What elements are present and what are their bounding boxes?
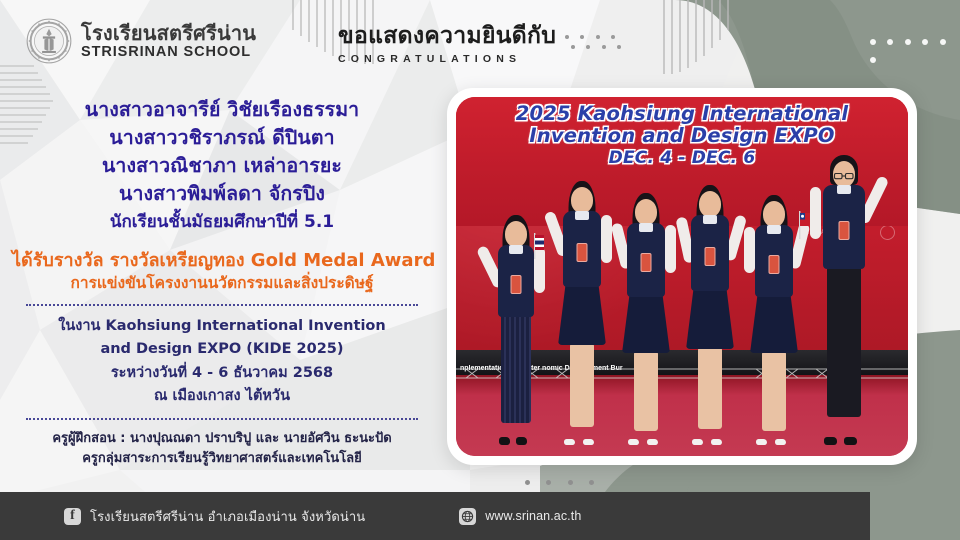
trousers — [501, 313, 531, 423]
head — [763, 201, 785, 227]
award-title: ได้รับรางวัล รางวัลเหรียญทอง Gold Medal … — [12, 249, 432, 273]
decorative-dot — [596, 35, 600, 39]
dotted-divider-bottom — [26, 418, 418, 420]
decorative-dot — [586, 45, 590, 49]
decorative-dot — [887, 39, 893, 45]
shoe-left — [499, 437, 510, 445]
decorative-dot — [870, 57, 876, 63]
shoe-left — [824, 437, 837, 445]
school-name-thai: โรงเรียนสตรีศรีน่าน — [81, 23, 256, 43]
person-student-2 — [614, 183, 678, 445]
award-content-column: นางสาวอาจารีย์ วิชัยเรืองธรรมา นางสาววชิ… — [12, 96, 432, 469]
congratulations-english: CONGRATULATIONS — [338, 53, 556, 65]
decorative-dot — [525, 480, 530, 485]
person-student-3 — [678, 179, 742, 445]
thai-flag-icon — [526, 233, 544, 259]
shoe-right — [583, 439, 594, 445]
dotted-divider-top — [26, 304, 418, 306]
id-badge — [577, 243, 588, 262]
decorative-dot — [611, 35, 615, 39]
shoe-left — [692, 439, 703, 445]
poster-footer: f โรงเรียนสตรีศรีน่าน อำเภอเมืองน่าน จัง… — [0, 492, 870, 540]
collar — [639, 223, 653, 232]
student-name: นางสาวณิชาภา เหล่าอารยะ — [12, 152, 432, 180]
collar — [837, 185, 851, 194]
green-area-dot-row — [870, 32, 960, 68]
person-student-4 — [742, 183, 806, 445]
skirt — [622, 293, 670, 353]
sleeve-left — [810, 187, 821, 239]
footer-website[interactable]: www.srinan.ac.th — [459, 508, 581, 525]
event-detail-line: ในงาน Kaohsiung International Invention — [12, 315, 432, 338]
person-teacher-male — [808, 155, 880, 445]
decorative-dot — [922, 39, 928, 45]
student-name: นางสาววชิราภรณ์ ดีปินตา — [12, 124, 432, 152]
school-logo-lockup: โรงเรียนสตรีศรีน่าน STRISRINAN SCHOOL — [26, 18, 256, 64]
facebook-icon: f — [64, 508, 81, 525]
event-photo-card: TIPPA WIIPA TIPPA WIIPA TIPPA WIIPA TIPP… — [447, 88, 917, 465]
skirt — [750, 293, 798, 353]
decorative-dot — [602, 45, 606, 49]
decorative-dot — [617, 45, 621, 49]
sleeve-left — [744, 227, 755, 273]
legs — [762, 351, 786, 431]
footer-facebook[interactable]: f โรงเรียนสตรีศรีน่าน อำเภอเมืองน่าน จัง… — [64, 506, 365, 527]
decorative-dot — [905, 39, 911, 45]
person-student-1 — [550, 177, 614, 445]
dot-row — [565, 45, 628, 55]
person-teacher-female — [484, 193, 548, 445]
school-name-english: STRISRINAN SCHOOL — [81, 45, 256, 60]
shoe-right — [647, 439, 658, 445]
award-subtitle: การแข่งขันโครงงานนวัตกรรมและสิ่งประดิษฐ์ — [12, 273, 432, 295]
coach-teacher-line: ครูผู้ฝึกสอน : นางปุณณดา ปราบริปู และ นา… — [12, 429, 432, 449]
skirt — [558, 283, 606, 345]
id-badge — [705, 247, 716, 266]
school-seal-icon — [26, 18, 72, 64]
legs — [634, 351, 658, 431]
head — [699, 191, 721, 217]
decorative-dot — [571, 45, 575, 49]
head — [635, 199, 657, 225]
coach-department-line: ครูกลุ่มสาระการเรียนรู้วิทยาศาสตร์และเทค… — [12, 449, 432, 469]
student-name: นางสาวพิมพ์ลดา จักรปิง — [12, 180, 432, 208]
eyeglasses-icon — [833, 172, 855, 180]
sleeve-right — [601, 215, 612, 263]
id-badge — [511, 275, 522, 294]
poster-header: โรงเรียนสตรีศรีน่าน STRISRINAN SCHOOL — [0, 0, 960, 86]
shoe-right — [516, 437, 527, 445]
school-name-text: โรงเรียนสตรีศรีน่าน STRISRINAN SCHOOL — [81, 23, 256, 60]
header-dot-grid — [565, 35, 628, 55]
student-grade-level: นักเรียนชั้นมัธยมศึกษาปีที่ 5.1 — [12, 210, 432, 236]
shoe-left — [756, 439, 767, 445]
shoe-right — [844, 437, 857, 445]
skirt — [686, 287, 734, 349]
event-photo: TIPPA WIIPA TIPPA WIIPA TIPPA WIIPA TIPP… — [456, 97, 908, 456]
decorative-dot — [870, 39, 876, 45]
footer-website-text: www.srinan.ac.th — [485, 509, 581, 523]
collar — [703, 215, 717, 224]
footer-facebook-text: โรงเรียนสตรีศรีน่าน อำเภอเมืองน่าน จังหว… — [90, 506, 365, 527]
collar — [767, 225, 781, 234]
decorative-dot — [940, 39, 946, 45]
id-badge — [839, 221, 850, 240]
sleeve-right — [665, 225, 676, 273]
shoe-left — [564, 439, 575, 445]
decorative-dot — [546, 480, 551, 485]
decorative-dot — [589, 480, 594, 485]
student-name-list: นางสาวอาจารีย์ วิชัยเรืองธรรมา นางสาววชิ… — [12, 96, 432, 208]
shoe-right — [775, 439, 786, 445]
head — [571, 187, 593, 213]
legs — [698, 347, 722, 429]
expo-banner-line2: Invention and Design EXPO — [456, 125, 908, 147]
shoe-right — [711, 439, 722, 445]
vertical-hatch-lines-right — [660, 0, 736, 74]
globe-icon — [459, 508, 476, 525]
congratulations-block: ขอแสดงความยินดีกับ CONGRATULATIONS — [338, 24, 556, 65]
decorative-dot — [568, 480, 573, 485]
congratulations-poster: โรงเรียนสตรีศรีน่าน STRISRINAN SCHOOL — [0, 0, 960, 540]
event-detail-line: and Design EXPO (KIDE 2025) — [12, 338, 432, 361]
decorative-dot — [580, 35, 584, 39]
award-recipients-group — [456, 158, 908, 445]
trousers — [827, 265, 861, 417]
taiwan-flag-icon — [790, 211, 810, 239]
student-name: นางสาวอาจารีย์ วิชัยเรืองธรรมา — [12, 96, 432, 124]
legs — [570, 343, 594, 427]
decorative-dot — [565, 35, 569, 39]
id-badge — [769, 255, 780, 274]
photo-caption-dot-row — [525, 472, 606, 490]
expo-banner-line1: 2025 Kaohsiung International — [456, 103, 908, 125]
id-badge — [641, 253, 652, 272]
head — [505, 221, 527, 247]
congratulations-thai: ขอแสดงความยินดีกับ — [338, 24, 556, 48]
collar — [509, 245, 523, 254]
event-detail-line: ณ เมืองเกาสง ไต้หวัน — [12, 385, 432, 408]
event-detail-line: ระหว่างวันที่ 4 - 6 ธันวาคม 2568 — [12, 362, 432, 385]
collar — [575, 211, 589, 220]
shoe-left — [628, 439, 639, 445]
